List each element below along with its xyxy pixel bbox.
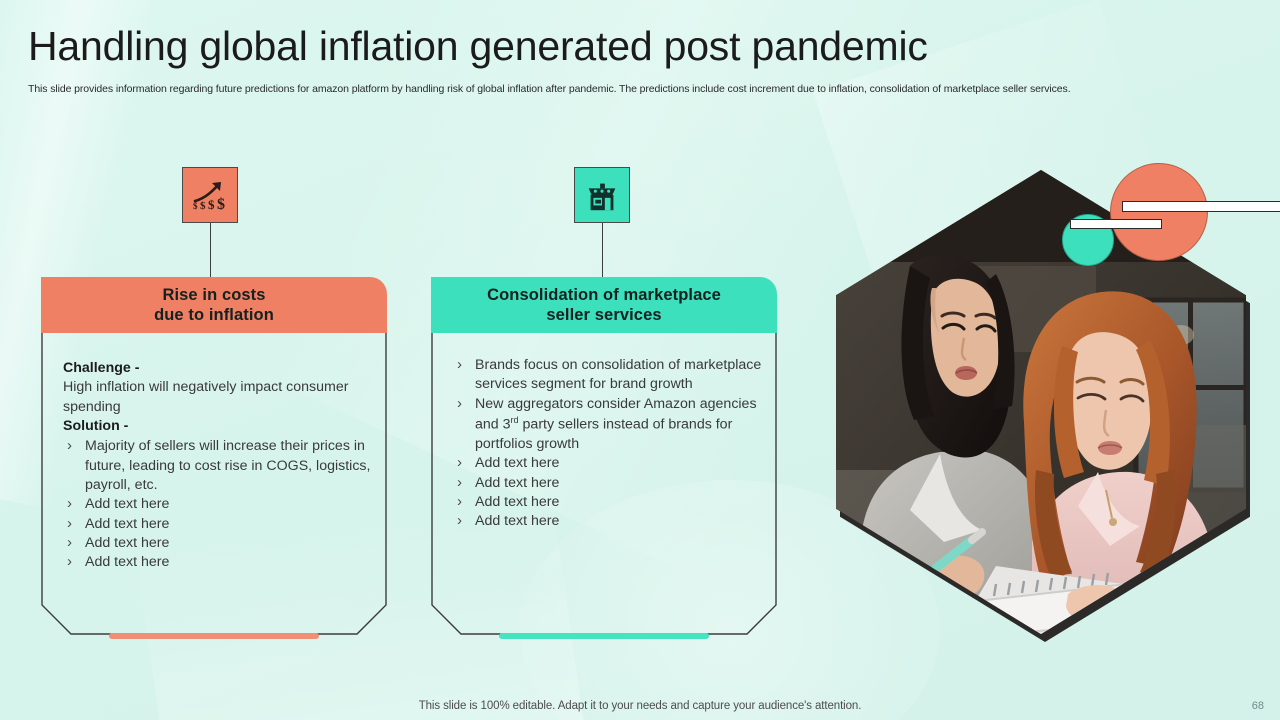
list-item: Add text here: [453, 454, 763, 473]
svg-text:$: $: [208, 197, 215, 212]
white-bar-short: [1070, 219, 1162, 229]
storefront-icon: [574, 167, 630, 223]
svg-text:$: $: [217, 196, 225, 213]
svg-text:$: $: [193, 201, 198, 211]
white-bar-long: [1122, 201, 1280, 212]
orange-circle: [1110, 163, 1208, 261]
card-content: Challenge - High inflation will negative…: [41, 333, 387, 572]
card-title-line1: Consolidation of marketplace: [487, 285, 721, 305]
card-header: Consolidation of marketplace seller serv…: [431, 277, 777, 333]
connector-stem: [602, 223, 603, 277]
card-content: Brands focus on consolidation of marketp…: [431, 333, 777, 532]
slide-canvas: Handling global inflation generated post…: [0, 0, 1280, 720]
svg-text:$: $: [200, 200, 206, 212]
page-subtitle: This slide provides information regardin…: [28, 83, 1252, 97]
list-item: Brands focus on consolidation of marketp…: [453, 356, 763, 395]
card-body: Brands focus on consolidation of marketp…: [431, 333, 777, 635]
list-item: Add text here: [453, 474, 763, 493]
list-item: Add text here: [63, 534, 373, 553]
card-rise-in-costs: Rise in costs due to inflation Challenge…: [41, 277, 387, 635]
list-item: New aggregators consider Amazon agencies…: [453, 395, 763, 455]
card-title-line2: due to inflation: [154, 305, 274, 325]
footer-note: This slide is 100% editable. Adapt it to…: [0, 700, 1280, 712]
page-title: Handling global inflation generated post…: [28, 24, 1252, 69]
connector-stem: [210, 223, 211, 277]
card-body: Challenge - High inflation will negative…: [41, 333, 387, 635]
list-item: Add text here: [63, 515, 373, 534]
card-accent-bar: [499, 633, 709, 639]
card-consolidation-of-marketplace: Consolidation of marketplace seller serv…: [431, 277, 777, 635]
card-header: Rise in costs due to inflation: [41, 277, 387, 333]
lead-solution: Solution -: [63, 417, 373, 436]
rising-dollar-chart-icon: $ $ $ $: [182, 167, 238, 223]
card-title-line1: Rise in costs: [162, 285, 265, 305]
card-accent-bar: [109, 633, 319, 639]
card-title-line2: seller services: [546, 305, 661, 325]
list-item: Majority of sellers will increase their …: [63, 437, 373, 495]
list-item: Add text here: [63, 553, 373, 572]
bullet-list-1: Majority of sellers will increase their …: [63, 437, 373, 572]
lead-challenge: Challenge - High inflation will negative…: [63, 359, 373, 417]
list-item: Add text here: [453, 512, 763, 531]
list-item: Add text here: [453, 493, 763, 512]
page-number: 68: [1252, 700, 1264, 712]
bullet-list-2: Brands focus on consolidation of marketp…: [453, 356, 763, 532]
header: Handling global inflation generated post…: [28, 24, 1252, 97]
list-item: Add text here: [63, 495, 373, 514]
